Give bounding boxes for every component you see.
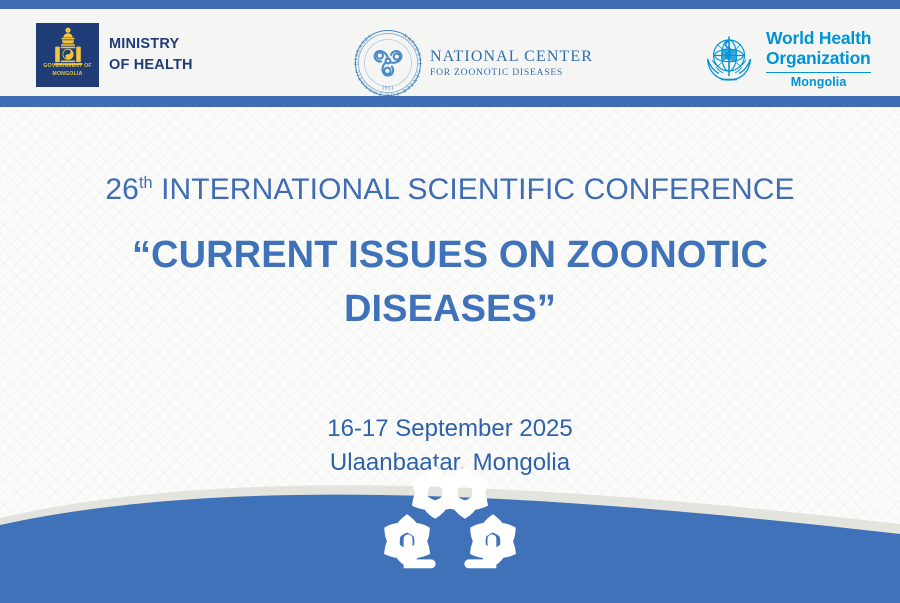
conference-number: 26: [105, 173, 139, 206]
national-center-line2: FOR ZOONOTIC DISEASES: [430, 68, 593, 78]
national-center-logo: NATIONAL CENTER FOR ZOONOTIC DISEASES 19…: [352, 27, 593, 99]
ministry-label: MINISTRY OF HEALTH: [109, 34, 193, 75]
national-center-text: NATIONAL CENTER FOR ZOONOTIC DISEASES: [430, 49, 593, 78]
who-line2: Organization: [766, 49, 871, 69]
conference-name: INTERNATIONAL SCIENTIFIC CONFERENCE: [153, 173, 795, 206]
event-date: 16-17 September 2025: [0, 412, 900, 446]
who-country-label: Mongolia: [766, 76, 871, 89]
conference-ordinal: th: [139, 174, 153, 192]
who-emblem: [700, 30, 758, 88]
conference-edition-line: 26th INTERNATIONAL SCIENTIFIC CONFERENCE: [0, 173, 900, 207]
who-line1: World Health: [766, 29, 871, 49]
triquetra-ornament-right: [0, 452, 886, 587]
soyombo-emblem: GOVERNMENT OF MONGOLIA: [36, 23, 99, 87]
who-text: World Health Organization Mongolia: [766, 29, 871, 89]
page-title: “CURRENT ISSUES ON ZOONOTIC DISEASES”: [60, 229, 840, 337]
ministry-label-line2: OF HEALTH: [109, 55, 193, 76]
page-title-line1: “CURRENT ISSUES ON ZOONOTIC: [60, 229, 840, 283]
top-accent-bar: [0, 0, 900, 9]
who-divider: [766, 72, 871, 74]
emblem-caption: GOVERNMENT OF MONGOLIA: [36, 62, 99, 78]
conference-title-slide: GOVERNMENT OF MONGOLIA MINISTRY OF HEALT…: [0, 0, 900, 603]
ministry-label-line1: MINISTRY: [109, 34, 193, 55]
who-logo: World Health Organization Mongolia: [700, 29, 871, 89]
ministry-of-health-logo: GOVERNMENT OF MONGOLIA MINISTRY OF HEALT…: [36, 23, 193, 87]
zoonotic-seal: NATIONAL CENTER FOR ZOONOTIC DISEASES 19…: [352, 27, 424, 99]
page-title-line2: DISEASES”: [60, 283, 840, 337]
bottom-wave-decoration: [0, 468, 900, 603]
header-divider-bar: [0, 96, 900, 107]
slide-body: 26th INTERNATIONAL SCIENTIFIC CONFERENCE…: [0, 107, 900, 603]
logo-header: GOVERNMENT OF MONGOLIA MINISTRY OF HEALT…: [0, 9, 900, 96]
svg-text:1951: 1951: [382, 87, 394, 92]
national-center-line1: NATIONAL CENTER: [430, 49, 593, 65]
